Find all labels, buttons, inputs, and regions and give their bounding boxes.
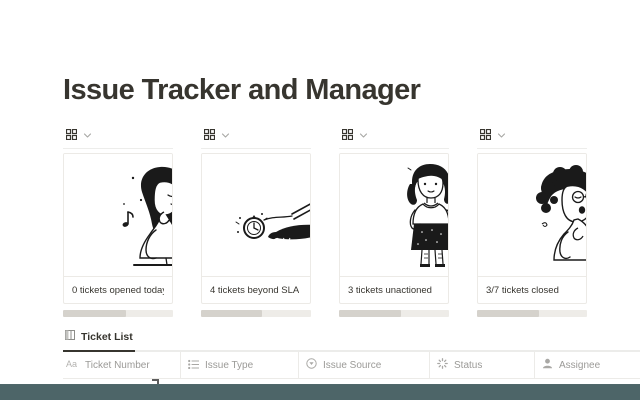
table-column-headers: Aa Ticket Number Issue Type (63, 352, 640, 378)
table-view-icon (65, 330, 75, 343)
svg-text:Aa: Aa (66, 359, 77, 369)
stats-card-3[interactable]: 3/7 tickets closed (477, 126, 587, 317)
card-scrollbar-thumb[interactable] (63, 310, 126, 317)
page-title: Issue Tracker and Manager (63, 74, 420, 107)
column-header-label: Issue Type (205, 360, 253, 371)
column-header-issue-source[interactable]: Issue Source (299, 352, 430, 378)
ticket-table-section: Ticket List Aa Ticket Number (63, 328, 640, 379)
resize-cursor-marker (152, 379, 159, 384)
card-label-wrap-1: 4 tickets beyond SLA (202, 276, 310, 303)
column-header-label: Assignee (559, 360, 600, 371)
stats-card-1[interactable]: 4 tickets beyond SLA (201, 126, 311, 317)
table-tabs: Ticket List (63, 328, 640, 350)
column-header-ticket-number[interactable]: Aa Ticket Number (63, 352, 181, 378)
person-icon (542, 358, 553, 372)
card-body-1[interactable]: 4 tickets beyond SLA (201, 153, 311, 304)
app-page: Issue Tracker and Manager (0, 0, 640, 400)
multi-select-list-icon (188, 359, 199, 372)
chevron-down-icon[interactable] (83, 127, 92, 145)
card-label: 3 tickets unactioned (348, 285, 432, 296)
tab-underline-row (63, 350, 640, 352)
grid-2x2-icon[interactable] (66, 127, 77, 145)
column-header-assignee[interactable]: Assignee (535, 352, 640, 378)
stats-card-strip: 0 tickets opened today (63, 126, 640, 317)
chevron-down-icon[interactable] (221, 127, 230, 145)
card-header-rule (201, 148, 311, 149)
column-header-label: Status (454, 360, 482, 371)
standing-woman-illustration (340, 154, 448, 276)
grid-2x2-icon[interactable] (342, 127, 353, 145)
column-header-label: Issue Source (323, 360, 381, 371)
column-header-issue-type[interactable]: Issue Type (181, 352, 299, 378)
card-scrollbar-0[interactable] (63, 310, 173, 317)
tab-active-indicator (63, 350, 135, 352)
column-header-label: Ticket Number (85, 360, 150, 371)
card-scrollbar-3[interactable] (477, 310, 587, 317)
card-scrollbar-thumb[interactable] (339, 310, 401, 317)
card-label: 4 tickets beyond SLA (210, 285, 299, 296)
card-header-rule (477, 148, 587, 149)
table-header-rule (63, 378, 640, 379)
card-scrollbar-thumb[interactable] (201, 310, 262, 317)
card-scrollbar-thumb[interactable] (477, 310, 539, 317)
text-aa-icon: Aa (66, 359, 79, 372)
card-scrollbar-2[interactable] (339, 310, 449, 317)
card-header-1[interactable] (201, 126, 311, 146)
hand-holding-stopwatch-illustration (202, 154, 310, 276)
card-header-3[interactable] (477, 126, 587, 146)
card-label: 3/7 tickets closed (486, 285, 559, 296)
card-body-3[interactable]: 3/7 tickets closed (477, 153, 587, 304)
tab-label: Ticket List (81, 331, 133, 343)
card-label: 0 tickets opened today (72, 285, 164, 296)
card-label-wrap-3: 3/7 tickets closed (478, 276, 586, 303)
chevron-down-icon[interactable] (497, 127, 506, 145)
stats-card-0[interactable]: 0 tickets opened today (63, 126, 173, 317)
card-header-2[interactable] (339, 126, 449, 146)
card-label-wrap-2: 3 tickets unactioned (340, 276, 448, 303)
tab-ticket-list[interactable]: Ticket List (63, 330, 137, 348)
column-header-status[interactable]: Status (430, 352, 535, 378)
card-label-wrap-0: 0 tickets opened today (64, 276, 172, 303)
person-with-curly-hair-illustration (478, 154, 586, 276)
chevron-down-icon[interactable] (359, 127, 368, 145)
status-spinner-icon (437, 358, 448, 372)
card-header-0[interactable] (63, 126, 173, 146)
person-listening-to-music-illustration (64, 154, 172, 276)
card-body-0[interactable]: 0 tickets opened today (63, 153, 173, 304)
bottom-bar (0, 385, 640, 400)
grid-2x2-icon[interactable] (480, 127, 491, 145)
card-header-rule (63, 148, 173, 149)
card-body-2[interactable]: 3 tickets unactioned (339, 153, 449, 304)
select-circle-icon (306, 358, 317, 372)
stats-card-2[interactable]: 3 tickets unactioned (339, 126, 449, 317)
grid-2x2-icon[interactable] (204, 127, 215, 145)
card-header-rule (339, 148, 449, 149)
card-scrollbar-1[interactable] (201, 310, 311, 317)
